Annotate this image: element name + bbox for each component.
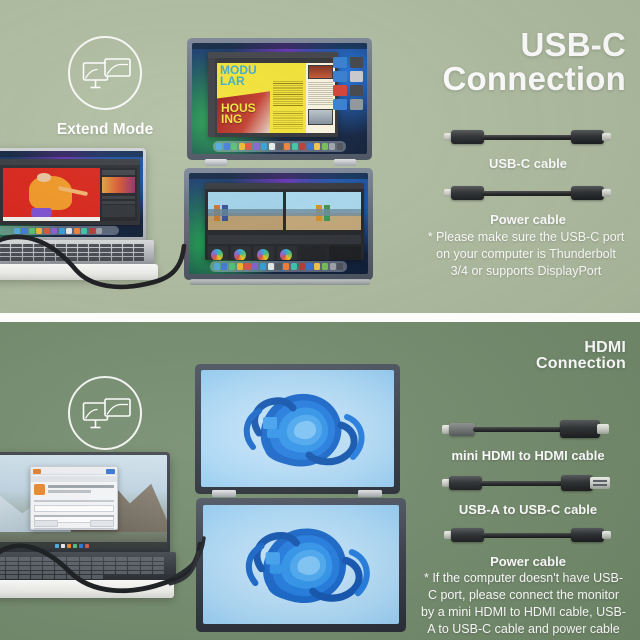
monitor-hinge-tab-left — [212, 490, 236, 497]
power-cable-icon — [430, 180, 626, 206]
heading-line-1: HDMI — [584, 339, 626, 356]
usb-c-cable-icon — [430, 124, 626, 150]
usb-c-panel-note: * Please make sure the USB-C port on you… — [426, 229, 626, 280]
monitor-base — [190, 279, 370, 285]
power-cable-label: Power cable — [430, 554, 626, 570]
portable-monitor-top-screen: MODULAR HOUSING — [187, 38, 372, 160]
monitor-hinge-tab-right — [334, 159, 356, 166]
hdmi-connection-panel: HDMI Connection Share Mode — [0, 322, 640, 640]
power-cable-icon — [430, 522, 626, 548]
panel-divider — [0, 313, 640, 322]
heading-line-2: Connection — [443, 62, 626, 96]
video-editing-app-window — [205, 183, 364, 260]
extend-mode-circle — [68, 36, 142, 110]
mini-hdmi-to-hdmi-cable-icon — [430, 416, 626, 442]
power-cable-legend: Power cable — [430, 180, 626, 228]
mini-hdmi-cable-legend: mini HDMI to HDMI cable — [430, 416, 626, 464]
usb-c-connection-panel: USB-C Connection Extend Mode — [0, 0, 640, 313]
usb-c-cable-label: USB-C cable — [430, 156, 626, 172]
portable-monitor-bottom-screen — [196, 498, 406, 632]
hdmi-panel-note: * If the computer doesn't have USB-C por… — [421, 570, 626, 638]
mac-dock — [210, 261, 346, 272]
windows-11-bloom-wallpaper — [201, 370, 394, 487]
usb-c-cable-connection — [0, 208, 198, 288]
monitor-hinge-tab-left — [205, 159, 227, 166]
windows-11-bloom-wallpaper — [203, 505, 399, 624]
usb-a-to-usb-c-cable-legend: USB-A to USB-C cable — [430, 470, 626, 518]
usb-c-panel-heading: USB-C Connection — [443, 28, 626, 95]
extend-mode-label: Extend Mode — [30, 121, 180, 139]
power-cable-legend: Power cable — [430, 522, 626, 570]
usb-a-to-usb-c-cable-icon — [430, 470, 626, 496]
power-cable-label: Power cable — [430, 212, 626, 228]
usb-a-to-usb-c-cable-label: USB-A to USB-C cable — [430, 502, 626, 518]
heading-line-2: Connection — [536, 356, 626, 372]
mac-dock — [213, 141, 346, 152]
windows-laptop — [0, 452, 194, 602]
heading-line-1: USB-C — [521, 26, 627, 63]
product-infographic: USB-C Connection Extend Mode — [0, 0, 640, 640]
macbook-pro-laptop: MacBook Pro — [0, 148, 168, 278]
mini-hdmi-cable-label: mini HDMI to HDMI cable — [430, 448, 626, 464]
extend-mode-badge: Extend Mode — [30, 36, 180, 139]
hdmi-cable-bundle — [0, 510, 214, 602]
two-screens-share-icon — [82, 395, 132, 435]
portable-monitor-top-screen — [195, 364, 400, 494]
portable-monitor-bottom-screen — [184, 168, 373, 280]
layout-design-app-window: MODULAR HOUSING — [208, 52, 338, 137]
hdmi-panel-heading: HDMI Connection — [536, 340, 626, 373]
share-mode-circle — [68, 376, 142, 450]
two-screens-extend-icon — [82, 55, 132, 95]
monitor-hinge-tab-right — [358, 490, 382, 497]
usb-c-cable-legend: USB-C cable — [430, 124, 626, 172]
